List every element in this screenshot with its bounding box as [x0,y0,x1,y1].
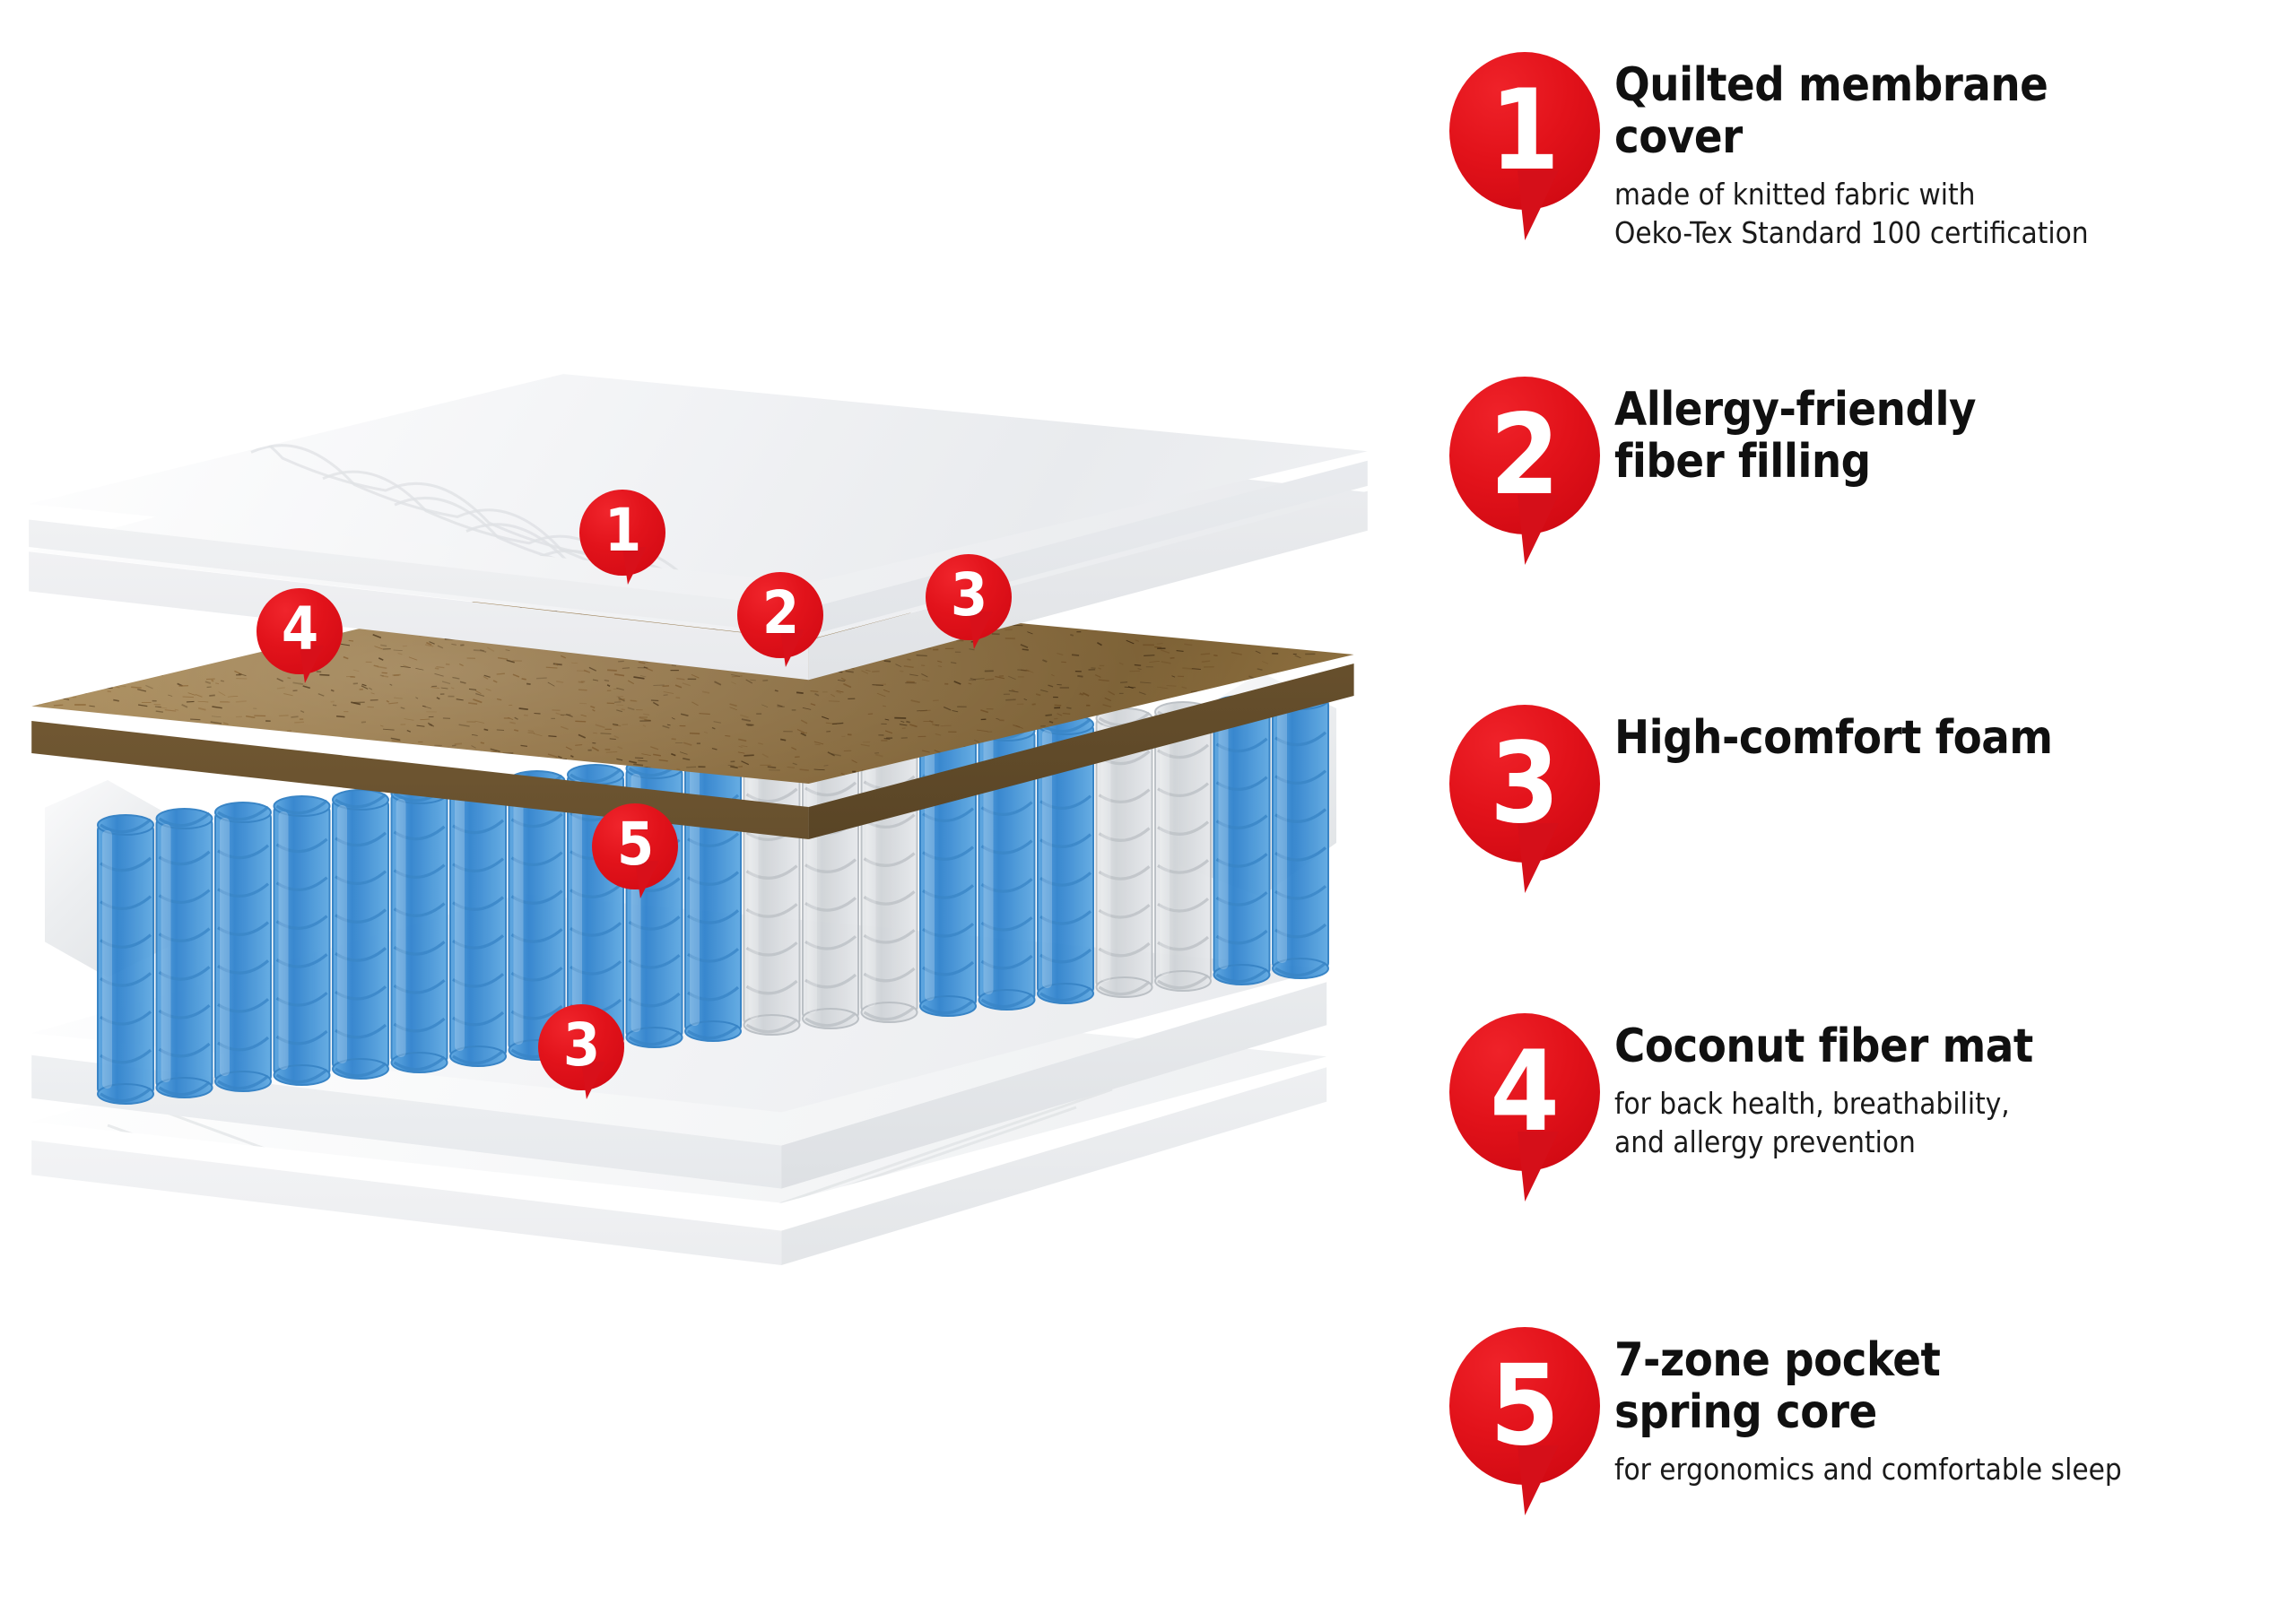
legend-item-4[interactable]: 4 Coconut fiber mat for back health, bre… [1435,997,2296,1203]
legend-subtitle-5: for ergonomics and comfortable sleep [1614,1451,2296,1489]
legend-pin-5-icon: 5 [1435,1311,1614,1517]
legend-item-2[interactable]: 2 Allergy-friendly fiber filling [1435,360,2296,567]
callout-pin-spring-core[interactable]: 5 [592,803,678,889]
callout-pin-number: 4 [257,588,343,674]
callout-pin-fiber-filling[interactable]: 2 [737,572,823,658]
infographic-canvas: 123453 1 Quilted membrane cover made of … [0,0,2296,1605]
callout-pin-quilted-cover[interactable]: 1 [579,490,665,576]
legend-pin-3-icon: 3 [1435,689,1614,895]
legend-pin-4-icon: 4 [1435,997,1614,1203]
legend-list: 1 Quilted membrane cover made of knitted… [1435,0,2296,1605]
legend-pin-1-number: 1 [1449,52,1600,210]
legend-text-1: Quilted membrane cover made of knitted f… [1614,36,2296,253]
legend-text-4: Coconut fiber mat for back health, breat… [1614,997,2296,1162]
callout-pin-number: 3 [538,1004,624,1090]
callout-pin-number: 1 [579,490,665,576]
legend-pin-1-icon: 1 [1435,36,1614,242]
legend-item-5[interactable]: 5 7-zone pocket spring core for ergonomi… [1435,1311,2296,1517]
legend-pin-3-number: 3 [1449,705,1600,863]
callout-pin-comfort-foam[interactable]: 3 [538,1004,624,1090]
legend-title-1: Quilted membrane cover [1614,59,2296,163]
legend-item-1[interactable]: 1 Quilted membrane cover made of knitted… [1435,36,2296,253]
legend-pin-4-number: 4 [1449,1013,1600,1171]
mattress-exploded-illustration: 123453 [0,0,1435,1605]
legend-text-2: Allergy-friendly fiber filling [1614,360,2296,488]
legend-pin-2-number: 2 [1449,377,1600,534]
legend-title-2: Allergy-friendly fiber filling [1614,384,2296,488]
callout-pin-number: 3 [926,554,1012,640]
callout-pin-number: 5 [592,803,678,889]
legend-title-3: High-comfort foam [1614,712,2296,764]
callout-pin-number: 2 [737,572,823,658]
legend-pin-2-icon: 2 [1435,360,1614,567]
legend-subtitle-1: made of knitted fabric with Oeko-Tex Sta… [1614,176,2296,253]
legend-title-5: 7-zone pocket spring core [1614,1334,2296,1438]
legend-text-3: High-comfort foam [1614,689,2296,764]
callout-pin-comfort-foam[interactable]: 3 [926,554,1012,640]
legend-subtitle-4: for back health, breathability, and alle… [1614,1085,2296,1162]
legend-pin-5-number: 5 [1449,1327,1600,1485]
legend-text-5: 7-zone pocket spring core for ergonomics… [1614,1311,2296,1489]
callout-pin-coconut-mat[interactable]: 4 [257,588,343,674]
legend-title-4: Coconut fiber mat [1614,1020,2296,1072]
legend-item-3[interactable]: 3 High-comfort foam [1435,689,2296,895]
